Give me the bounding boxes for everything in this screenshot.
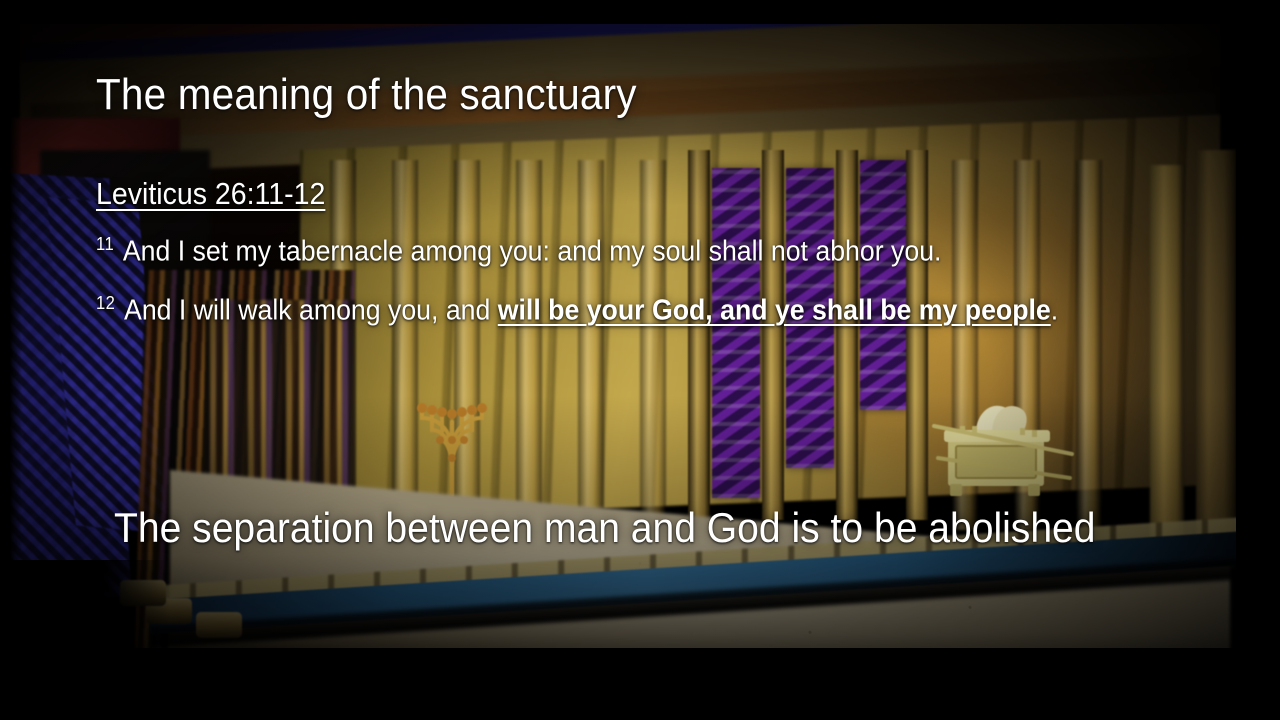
verse-tail: . <box>1051 295 1058 327</box>
slide-text-layer: The meaning of the sanctuary Leviticus 2… <box>0 0 1280 720</box>
scripture-reference: Leviticus 26:11-12 <box>96 176 325 212</box>
verse-number: 11 <box>96 234 117 254</box>
verse-emphasis: will be your God, and ye shall be my peo… <box>498 295 1051 327</box>
slide-caption: The separation between man and God is to… <box>114 504 1095 552</box>
verse-line-11: 11 And I set my tabernacle among you: an… <box>96 234 941 269</box>
verse-text: And I set my tabernacle among you: and m… <box>117 236 942 268</box>
verse-text: And I will walk among you, and <box>118 295 498 327</box>
verse-number: 12 <box>96 293 118 313</box>
verse-line-12: 12 And I will walk among you, and will b… <box>96 293 1058 328</box>
slide-title: The meaning of the sanctuary <box>96 70 637 120</box>
presentation-slide: The meaning of the sanctuary Leviticus 2… <box>0 0 1280 720</box>
